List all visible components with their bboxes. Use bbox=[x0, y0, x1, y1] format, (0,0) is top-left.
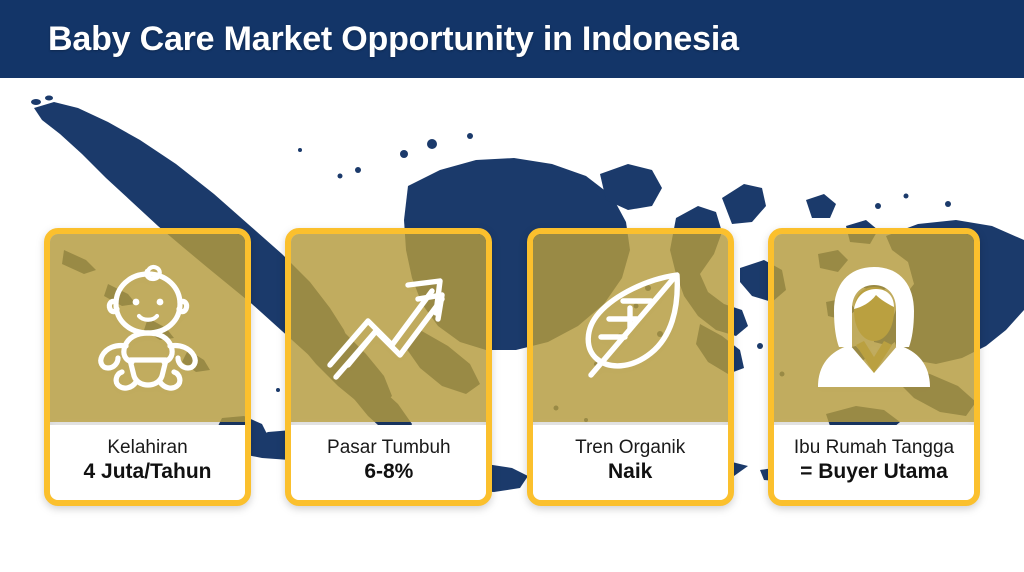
card-line1: Ibu Rumah Tangga bbox=[794, 437, 954, 458]
card-visual-pasar-tumbuh bbox=[291, 234, 486, 422]
stat-card-ibu-rumah-tangga[interactable]: Ibu Rumah Tangga = Buyer Utama bbox=[768, 228, 980, 506]
stat-cards-row: Kelahiran 4 Juta/Tahun bbox=[44, 228, 980, 506]
card-line1: Kelahiran bbox=[107, 437, 187, 458]
card-line2: 4 Juta/Tahun bbox=[84, 460, 212, 484]
card-label-kelahiran: Kelahiran 4 Juta/Tahun bbox=[50, 425, 245, 500]
card-line2: = Buyer Utama bbox=[800, 460, 948, 484]
header-bar: Baby Care Market Opportunity in Indonesi… bbox=[0, 0, 1024, 78]
card-label-pasar-tumbuh: Pasar Tumbuh 6-8% bbox=[291, 425, 486, 500]
stat-card-kelahiran[interactable]: Kelahiran 4 Juta/Tahun bbox=[44, 228, 251, 506]
stat-card-tren-organik[interactable]: Tren Organik Naik bbox=[527, 228, 734, 506]
card-visual-ibu-rumah-tangga bbox=[774, 234, 974, 422]
card-visual-tren-organik bbox=[533, 234, 728, 422]
stat-card-pasar-tumbuh[interactable]: Pasar Tumbuh 6-8% bbox=[285, 228, 492, 506]
slide-canvas: Baby Care Market Opportunity in Indonesi… bbox=[0, 0, 1024, 572]
woman-silhouette-icon bbox=[812, 265, 936, 391]
card-line1: Pasar Tumbuh bbox=[327, 437, 451, 458]
card-label-ibu-rumah-tangga: Ibu Rumah Tangga = Buyer Utama bbox=[774, 425, 974, 500]
card-visual-kelahiran bbox=[50, 234, 245, 422]
card-line2: Naik bbox=[608, 460, 652, 484]
page-title: Baby Care Market Opportunity in Indonesi… bbox=[48, 20, 739, 59]
baby-outline-icon bbox=[92, 260, 204, 396]
card-label-tren-organik: Tren Organik Naik bbox=[533, 425, 728, 500]
card-line2: 6-8% bbox=[364, 460, 413, 484]
growth-arrow-icon bbox=[324, 269, 454, 387]
leaf-outline-icon bbox=[567, 267, 693, 389]
card-line1: Tren Organik bbox=[575, 437, 685, 458]
